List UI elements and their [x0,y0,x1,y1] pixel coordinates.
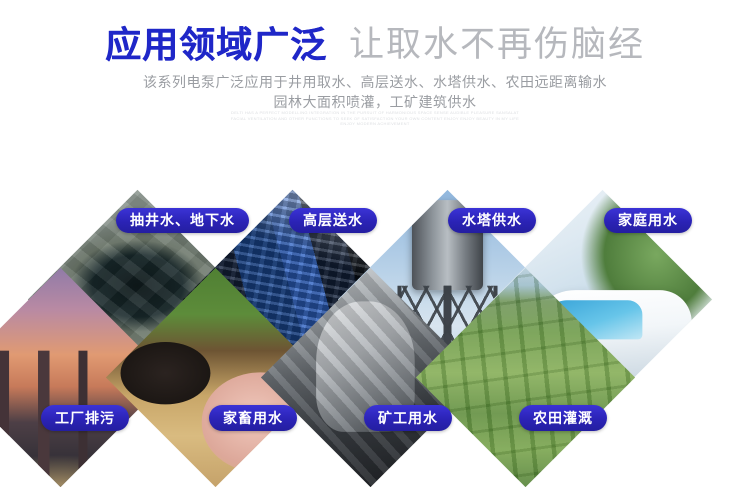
header-banner: 应用领域广泛让取水不再伤脑经 该系列电泵广泛应用于井用取水、高层送水、水塔供水、… [0,0,750,150]
label-pill-miner[interactable]: 矿工用水 [364,405,452,431]
label-pill-tower[interactable]: 水塔供水 [448,208,536,233]
decorative-microtext: DELTI HAS A PERFECT MODELLING INTEGRATIO… [0,110,750,127]
subtitle-line-2: 园林大面积喷灌，工矿建筑供水 [0,92,750,112]
subtitle-line-1: 该系列电泵广泛应用于井用取水、高层送水、水塔供水、农田远距离输水 [0,72,750,92]
title-primary: 应用领域广泛 [105,24,327,65]
label-pill-factory[interactable]: 工厂排污 [41,405,129,431]
application-diamond-grid: 抽井水、地下水 高层送水 水塔供水 家庭用水 工厂排污 家畜用水 矿工用水 农田… [0,190,750,468]
page-title: 应用领域广泛让取水不再伤脑经 [0,22,750,68]
title-secondary: 让取水不再伤脑经 [349,25,645,64]
label-pill-well[interactable]: 抽井水、地下水 [116,208,249,233]
label-pill-towers[interactable]: 高层送水 [289,208,377,233]
label-pill-home[interactable]: 家庭用水 [604,208,692,233]
label-pill-farm[interactable]: 农田灌溉 [519,405,607,431]
label-pill-pigs[interactable]: 家畜用水 [209,405,297,431]
